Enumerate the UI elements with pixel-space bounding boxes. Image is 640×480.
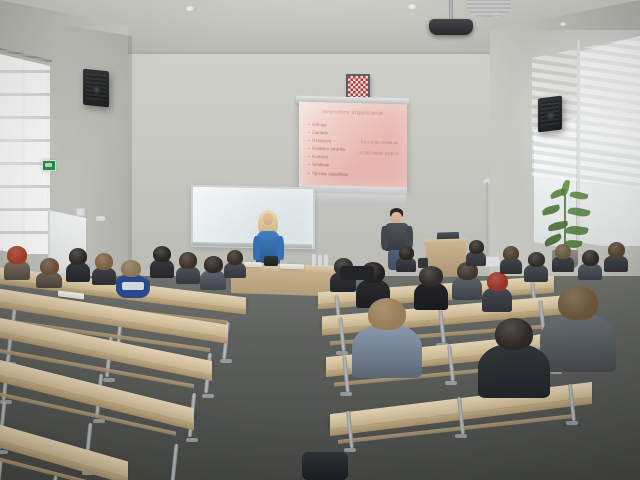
dark-bag bbox=[340, 266, 374, 280]
ceiling-light bbox=[408, 4, 416, 9]
wall-speaker-right bbox=[538, 96, 562, 133]
wall-switch-icon[interactable] bbox=[76, 208, 85, 216]
slide-bullet: Vjerske zajednice bbox=[308, 169, 348, 178]
student-torso bbox=[414, 282, 448, 310]
slide-title: Neprofitne organizacije bbox=[299, 109, 407, 118]
student-head bbox=[503, 246, 519, 261]
ceiling-light bbox=[560, 22, 566, 26]
student-head bbox=[69, 248, 87, 265]
wall-speaker-left bbox=[83, 69, 109, 108]
exit-sign-icon bbox=[42, 160, 56, 171]
student-dark-front-r bbox=[478, 318, 550, 398]
student-mid-2 bbox=[466, 240, 486, 266]
wall-sensor-icon bbox=[96, 216, 105, 221]
student-dark-3 bbox=[176, 252, 200, 284]
student-curly-left bbox=[36, 258, 62, 288]
student-grey-1 bbox=[200, 256, 226, 290]
water-bottle bbox=[312, 254, 316, 266]
student-head bbox=[204, 256, 223, 273]
ceiling-projector bbox=[429, 19, 473, 35]
student-head bbox=[419, 266, 443, 286]
presenter-arm-right bbox=[277, 236, 284, 260]
slide-note-line3: DOBITI bbox=[385, 151, 399, 156]
student-blue-front bbox=[352, 298, 422, 378]
student-head bbox=[399, 246, 414, 260]
student-torso bbox=[352, 324, 422, 378]
ceiling-vent-icon bbox=[467, 0, 511, 17]
glass-block-window bbox=[0, 54, 50, 254]
student-torso bbox=[200, 270, 226, 290]
student-torso bbox=[478, 344, 550, 398]
student-dark-1 bbox=[66, 248, 90, 282]
classroom-photo: Neprofitne organizacije Udruge Zaklade U… bbox=[0, 0, 640, 480]
student-far-5 bbox=[604, 242, 628, 272]
student-far-3 bbox=[552, 244, 574, 272]
slide-bullet-list: Udruge Zaklade Ustanove Političke strank… bbox=[308, 121, 348, 179]
student-head bbox=[558, 286, 598, 320]
desk-foot bbox=[186, 438, 198, 442]
water-bottle bbox=[318, 255, 322, 266]
student-head bbox=[121, 260, 141, 277]
student-head bbox=[608, 242, 625, 258]
student-head bbox=[582, 250, 599, 266]
student-head bbox=[469, 240, 484, 254]
student-redhair-left bbox=[4, 246, 30, 280]
student-torso bbox=[66, 262, 90, 282]
student-head bbox=[555, 244, 571, 259]
floor-backpack bbox=[302, 452, 348, 480]
desk-foot bbox=[202, 394, 214, 398]
backpack-logo bbox=[122, 282, 144, 290]
student-head bbox=[227, 250, 243, 265]
student-head bbox=[368, 298, 406, 330]
desk-foot bbox=[340, 392, 352, 396]
student-far-4 bbox=[578, 250, 602, 280]
water-bottle bbox=[324, 254, 328, 266]
desk-foot bbox=[445, 381, 457, 385]
student-dark-2 bbox=[150, 246, 174, 278]
student-blonde-1 bbox=[92, 253, 116, 285]
student-head bbox=[40, 258, 59, 275]
desk-foot bbox=[220, 359, 232, 363]
student-head bbox=[495, 318, 533, 350]
papers-on-desk bbox=[244, 262, 262, 268]
presenter-arm-left bbox=[253, 236, 260, 260]
student-far-2 bbox=[524, 252, 548, 282]
student-grey-front-r bbox=[540, 286, 616, 372]
student-head bbox=[179, 252, 197, 269]
desk-foot bbox=[566, 421, 578, 425]
student-red-right bbox=[482, 272, 512, 312]
slide-side-note: CILJ DJELOVANJA ↓ STJECANJE DOBITI bbox=[356, 139, 402, 158]
camera-on-desk bbox=[264, 256, 278, 266]
projection-screen: Neprofitne organizacije Udruge Zaklade U… bbox=[299, 102, 407, 191]
student-mid-1 bbox=[224, 250, 246, 278]
desk-foot bbox=[344, 448, 356, 452]
student-black-right bbox=[414, 266, 448, 310]
papers-on-desk bbox=[280, 264, 304, 270]
presenter2-arm-left bbox=[381, 226, 388, 250]
student-far-1 bbox=[500, 246, 522, 274]
student-head bbox=[528, 252, 545, 267]
student-head bbox=[153, 246, 171, 262]
floor-stand bbox=[486, 182, 488, 260]
student-head bbox=[95, 253, 113, 270]
student-grey-right bbox=[452, 262, 482, 300]
desk-foot bbox=[0, 450, 8, 454]
slide-note-line2: STJECANJE bbox=[359, 151, 383, 157]
student-mid-3 bbox=[396, 246, 416, 272]
desk-foot bbox=[103, 378, 115, 382]
slide-note-line1: CILJ DJELOVANJA bbox=[361, 139, 398, 145]
student-torso bbox=[540, 313, 616, 372]
student-head bbox=[7, 246, 27, 264]
student-head bbox=[487, 272, 508, 291]
desk-foot bbox=[455, 434, 467, 438]
presenter-face bbox=[263, 213, 273, 225]
ceiling-light bbox=[186, 6, 194, 11]
